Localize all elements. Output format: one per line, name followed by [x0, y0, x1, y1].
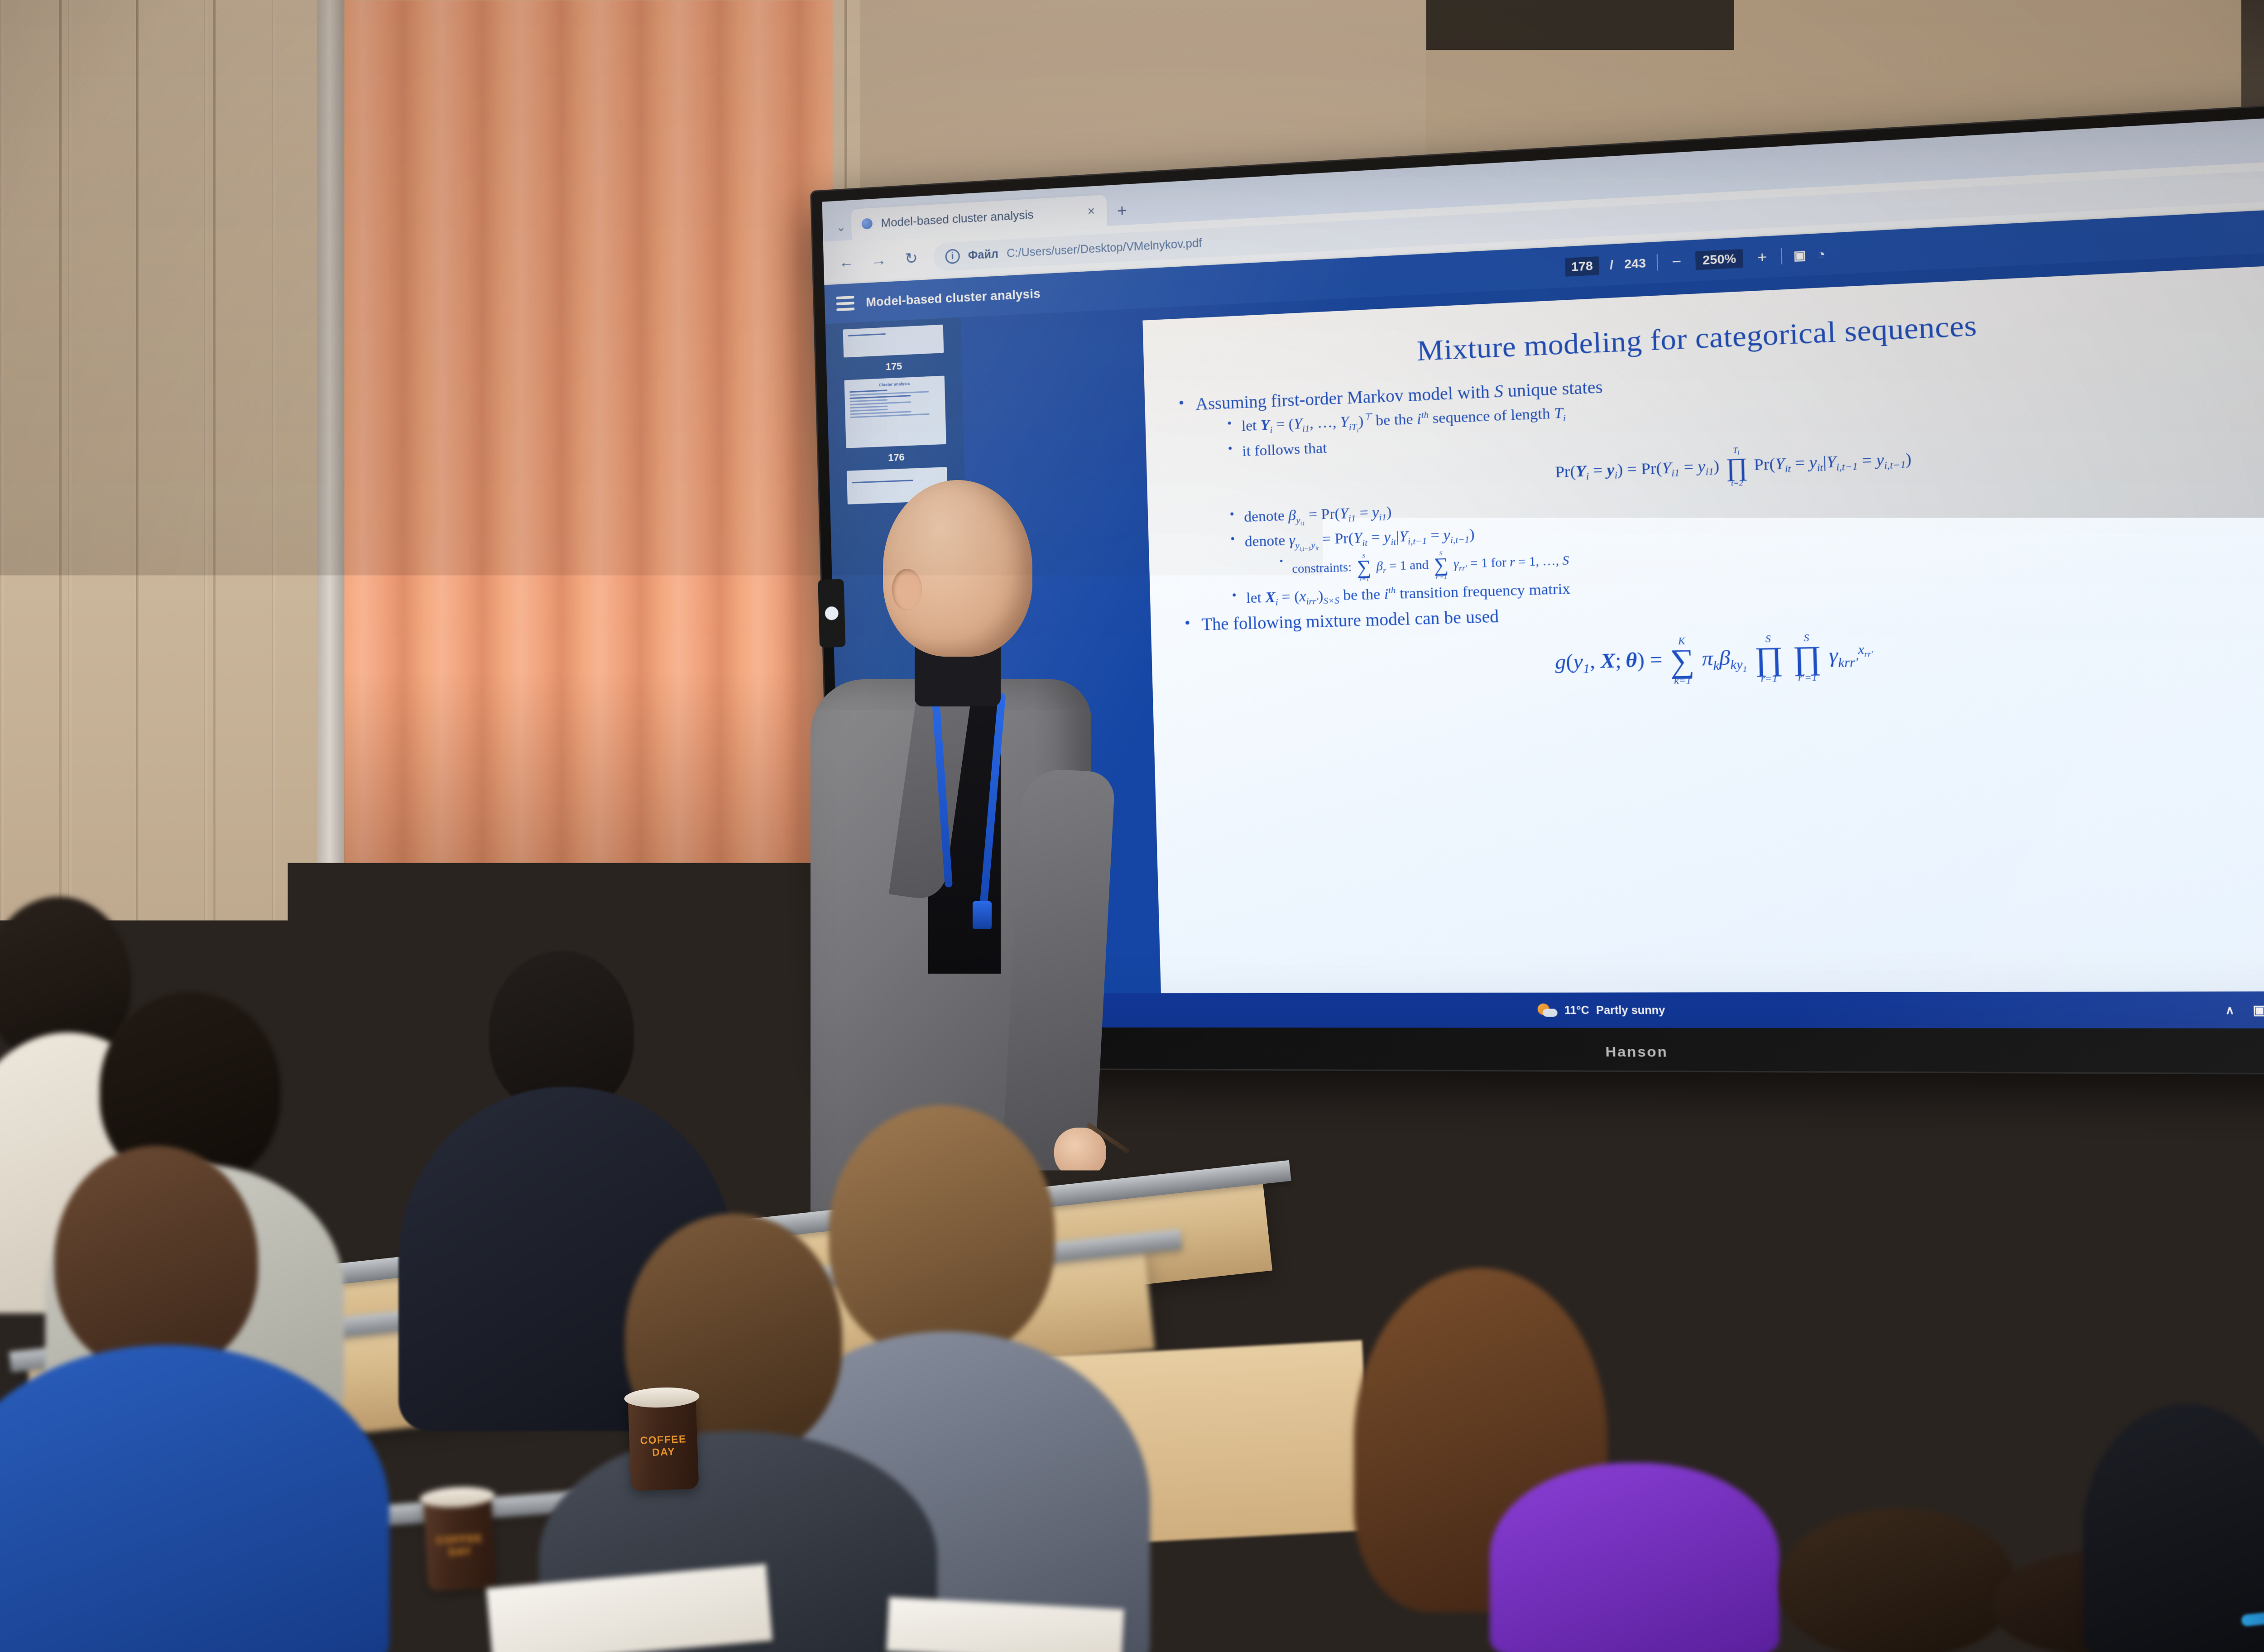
and-label: and — [1410, 557, 1429, 572]
constraints-label: constraints: — [1292, 560, 1352, 576]
new-tab-button[interactable]: + — [1117, 201, 1127, 221]
slide-bullet-list: Assuming first-order Markov model with S… — [1174, 348, 2260, 697]
it-follows-label: it follows that — [1242, 439, 1327, 459]
tail-4: transition frequency matrix — [1400, 580, 1571, 602]
audience-torso — [0, 1345, 389, 1652]
thumbnail-title-partial — [852, 471, 942, 480]
audience-member-right-1 — [1780, 1508, 2015, 1652]
chevron-down-icon[interactable]: ⌄ — [830, 213, 852, 241]
bullet-assuming: Assuming first-order Markov model with S… — [1174, 348, 2257, 612]
weather-description: Partly sunny — [1596, 1004, 1665, 1017]
system-tray: ▣ ⇣ ⎕ 🔈 — [2253, 1002, 2264, 1018]
let-label: let — [1241, 417, 1257, 434]
pdf-page-area[interactable]: Mixture modeling for categorical sequenc… — [960, 242, 2264, 994]
hamburger-icon[interactable] — [836, 296, 854, 311]
slide-page: Mixture modeling for categorical sequenc… — [1142, 265, 2264, 994]
thumbnail-number: 176 — [888, 451, 905, 464]
denote-label-2: denote — [1244, 532, 1285, 550]
thumbnail-title: Cluster analysis — [849, 380, 940, 389]
tray-expand-icon[interactable]: ∧ — [2225, 1003, 2235, 1017]
tail-1: be the — [1376, 410, 1414, 429]
tab-title: Model-based cluster analysis — [881, 207, 1034, 230]
pdf-page-controls: 178 / 243 − 250% + ▣ ◔ — [1565, 245, 1825, 276]
bullet-text-tail: unique states — [1507, 378, 1603, 401]
tail-2: sequence of length — [1432, 405, 1550, 427]
for-label: for — [1491, 555, 1506, 569]
thumbnail-partial[interactable] — [843, 325, 944, 358]
back-icon[interactable]: ← — [836, 253, 857, 271]
info-icon[interactable]: i — [945, 249, 960, 264]
thumbnail-page[interactable]: Cluster analysis — [844, 376, 946, 448]
presenter-ear — [892, 569, 922, 610]
let-label-2: let — [1246, 589, 1262, 606]
pdf-favicon-icon — [860, 216, 874, 231]
zoom-level[interactable]: 250% — [1695, 249, 1744, 270]
cup-label: COFFEE DAY — [425, 1532, 494, 1560]
scheme-label: Файл — [968, 247, 998, 262]
audience-member-purple-hoodie — [1490, 1463, 1780, 1652]
audience-member-blue-shirt — [0, 1146, 353, 1652]
audience-head — [1780, 1508, 2015, 1652]
thumbnail-number: 175 — [885, 360, 902, 373]
page-separator: / — [1610, 257, 1614, 272]
radiator-grille-left — [461, 893, 752, 960]
weather-temperature: 11°C — [1564, 1004, 1590, 1016]
rotate-icon[interactable]: ◔ — [1817, 246, 1826, 262]
cup-label: COFFEE DAY — [629, 1432, 698, 1459]
tail-3: be the — [1343, 586, 1380, 604]
audience-torso — [1490, 1463, 1780, 1652]
lecture-hall-scene: Hanson ⌄ Model-based cluster analysis × … — [0, 0, 2264, 1652]
url-text: C:/Users/user/Desktop/VMelnykov.pdf — [1007, 236, 1202, 260]
camera-icon[interactable]: ▣ — [2253, 1002, 2264, 1018]
var-S: S — [1494, 382, 1503, 402]
equation-mixture-model: g(y1, X; θ) = K∑k=1 πkβky1 S∏r=1 S∏r′=1 … — [1202, 621, 2260, 696]
audience-head — [54, 1146, 258, 1372]
presenter-head — [883, 480, 1032, 657]
window-frame — [317, 0, 345, 928]
sub-bullet-list: let Yi = (Yi1, …, YiTi)⊤ be the ith sequ… — [1223, 375, 2257, 610]
pdf-document-title: Model-based cluster analysis — [866, 287, 1041, 310]
current-page-input[interactable]: 178 — [1565, 256, 1599, 277]
divider — [1657, 254, 1658, 270]
ceiling-recess — [1426, 0, 1734, 50]
forward-icon[interactable]: → — [868, 251, 889, 270]
coffee-cup-1: COFFEE DAY — [628, 1393, 699, 1491]
total-pages: 243 — [1624, 255, 1646, 271]
coffee-cup-2: COFFEE DAY — [423, 1493, 496, 1591]
zoom-out-button[interactable]: − — [1669, 252, 1684, 271]
audience-torso — [2083, 1404, 2264, 1652]
close-icon[interactable]: × — [1084, 204, 1098, 219]
zoom-in-button[interactable]: + — [1754, 248, 1770, 266]
mixture-model-label: The following mixture model can be used — [1201, 607, 1499, 634]
audience-member-right-3 — [2083, 1404, 2264, 1652]
divider — [1781, 248, 1782, 264]
partly-sunny-icon — [1538, 1004, 1558, 1017]
denote-label-1: denote — [1244, 507, 1285, 525]
fit-page-icon[interactable]: ▣ — [1793, 247, 1806, 263]
presenter-badge — [973, 901, 992, 929]
reload-icon[interactable]: ↻ — [901, 249, 922, 269]
